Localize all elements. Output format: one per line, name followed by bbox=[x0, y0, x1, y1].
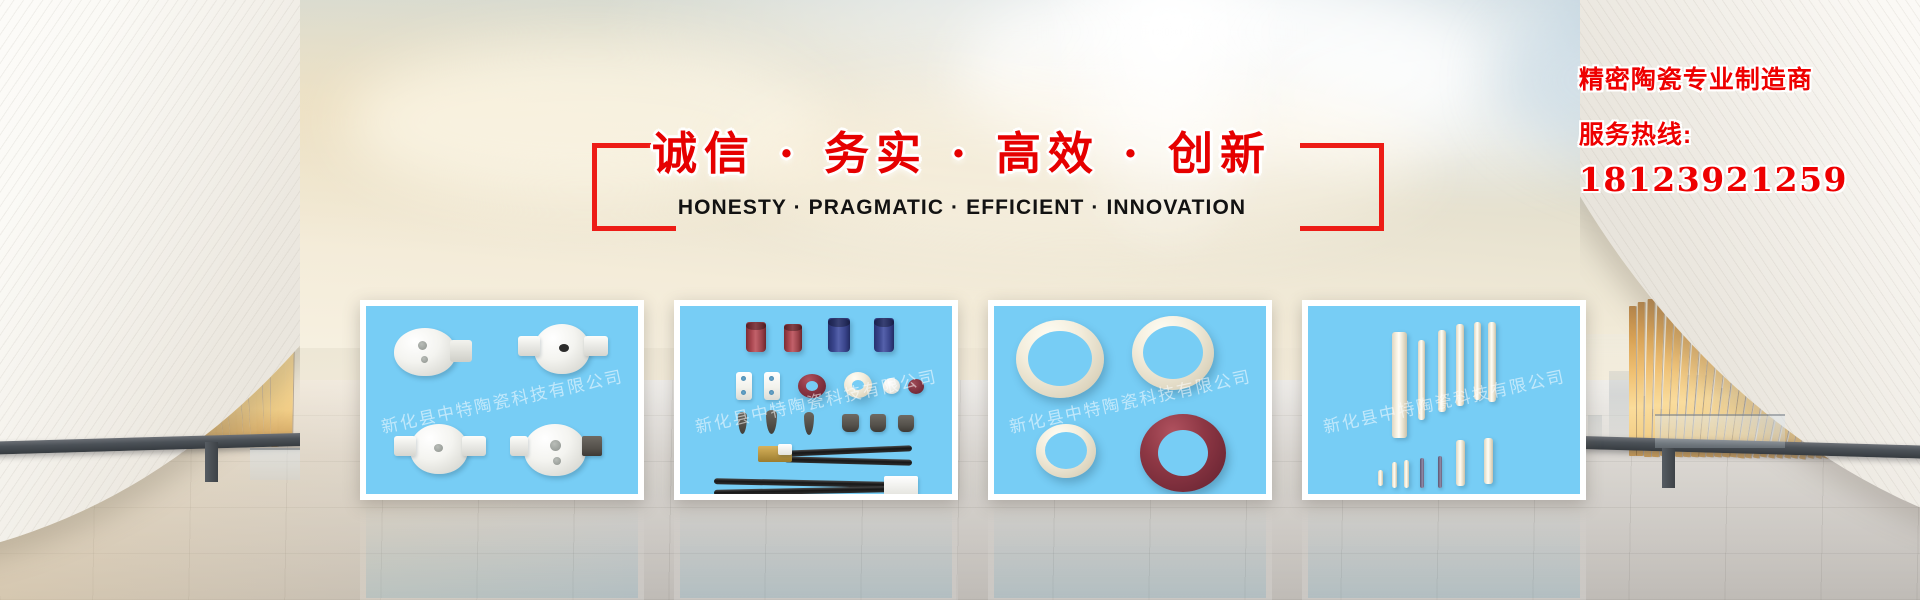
holder-tab bbox=[584, 336, 608, 356]
connector-pin bbox=[738, 412, 747, 434]
ceramic-rod bbox=[1456, 324, 1464, 406]
ceramic-rod bbox=[1392, 332, 1407, 438]
ceramic-rod bbox=[1418, 340, 1425, 420]
ceramic-rod bbox=[1438, 330, 1446, 412]
holder-tab bbox=[518, 336, 540, 356]
holder-tab bbox=[510, 436, 528, 456]
wire-lead bbox=[714, 486, 889, 494]
ceramic-rod-short bbox=[1378, 470, 1383, 486]
ceramic-ring-white bbox=[844, 372, 872, 398]
ceramic-lamp-holder bbox=[394, 328, 456, 376]
slogan-english: HONESTY · PRAGMATIC · EFFICIENT · INNOVA… bbox=[592, 196, 1332, 220]
holder-base bbox=[450, 340, 472, 362]
ceramic-ring-large bbox=[1132, 316, 1214, 390]
panel-canvas: 新化县中特陶瓷科技有限公司 bbox=[366, 306, 638, 494]
ceramic-rod-short bbox=[1484, 438, 1493, 484]
panel-canvas: 新化县中特陶瓷科技有限公司 bbox=[680, 306, 952, 494]
slogan-chinese: 诚信 · 务实 · 高效 · 创新 bbox=[592, 128, 1332, 180]
ceramic-rod-short bbox=[1404, 460, 1409, 488]
ceramic-rod bbox=[1474, 322, 1481, 400]
holder-tab bbox=[462, 436, 486, 456]
company-tagline: 精密陶瓷专业制造商 bbox=[1579, 60, 1848, 96]
insulator-block bbox=[778, 444, 792, 455]
ceramic-tube-blue bbox=[874, 318, 894, 352]
product-panel-ceramic-lamp-holders[interactable]: 新化县中特陶瓷科技有限公司 bbox=[360, 300, 644, 500]
ceramic-rod-dark bbox=[1438, 456, 1442, 488]
ceramic-tube-red bbox=[784, 324, 802, 352]
ceramic-ring-large bbox=[1016, 320, 1104, 398]
ceramic-disc-white bbox=[883, 378, 900, 394]
ceramic-rod bbox=[1488, 322, 1496, 402]
panel-canvas: 新化县中特陶瓷科技有限公司 bbox=[1308, 306, 1580, 494]
hero-banner: 诚信 · 务实 · 高效 · 创新 HONESTY · PRAGMATIC · … bbox=[0, 0, 1920, 600]
connector-pin bbox=[766, 410, 777, 434]
contact-block: 精密陶瓷专业制造商 服务热线: 18123921259 bbox=[1579, 60, 1848, 199]
ceramic-rod-dark bbox=[1420, 458, 1424, 488]
product-panel-ceramic-rods[interactable]: 新化县中特陶瓷科技有限公司 bbox=[1302, 300, 1586, 500]
ceramic-ring-small bbox=[1036, 424, 1096, 478]
wire-lead bbox=[784, 445, 912, 457]
hotline-phone-number[interactable]: 18123921259 bbox=[1579, 160, 1848, 199]
ceramic-lamp-holder bbox=[410, 424, 468, 474]
product-panel-ceramic-tubes[interactable]: 新化县中特陶瓷科技有限公司 bbox=[674, 300, 958, 500]
ceramic-ring-maroon bbox=[1140, 414, 1226, 492]
panel-canvas: 新化县中特陶瓷科技有限公司 bbox=[994, 306, 1266, 494]
ceramic-lamp-holder bbox=[524, 424, 586, 476]
ceramic-plate bbox=[736, 372, 752, 400]
ceramic-tube-blue bbox=[828, 318, 850, 352]
ceramic-rod-short bbox=[1456, 440, 1465, 486]
holder-terminal bbox=[582, 436, 602, 456]
ceramic-tube-red bbox=[746, 322, 766, 352]
wire-connector-housing bbox=[884, 476, 918, 494]
ceramic-plate bbox=[764, 372, 780, 400]
product-panel-ceramic-rings[interactable]: 新化县中特陶瓷科技有限公司 bbox=[988, 300, 1272, 500]
ceramic-disc-maroon bbox=[908, 379, 924, 394]
metal-connector bbox=[898, 415, 914, 432]
ceramic-rod-short bbox=[1392, 462, 1397, 488]
holder-tab bbox=[394, 436, 416, 456]
ceramic-lamp-holder bbox=[534, 324, 590, 374]
ceramic-ring-maroon bbox=[798, 374, 826, 398]
connector-pin bbox=[804, 412, 814, 435]
hotline-label: 服务热线: bbox=[1579, 115, 1848, 151]
product-panel-row: 新化县中特陶瓷科技有限公司 bbox=[0, 300, 1920, 500]
slogan-block: 诚信 · 务实 · 高效 · 创新 HONESTY · PRAGMATIC · … bbox=[592, 128, 1332, 220]
metal-connector bbox=[870, 414, 886, 432]
wire-lead bbox=[784, 456, 912, 465]
metal-connector bbox=[842, 414, 859, 432]
